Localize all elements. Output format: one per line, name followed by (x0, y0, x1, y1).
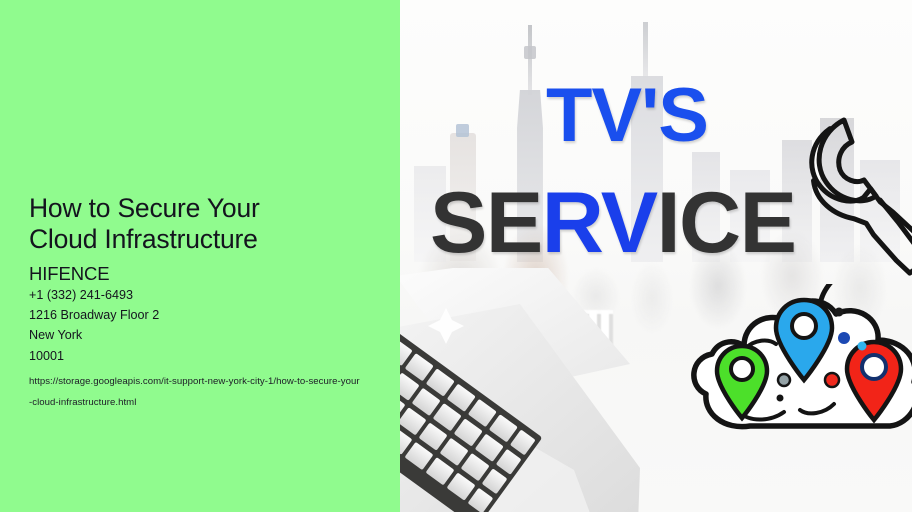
left-info-panel: How to Secure Your Cloud Infrastructure … (0, 0, 400, 512)
postal-code: 10001 (29, 346, 374, 366)
company-name: HIFENCE (29, 263, 374, 285)
dot-small-black (777, 395, 784, 402)
poster-canvas: How to Secure Your Cloud Infrastructure … (0, 0, 912, 512)
headline-seg-3: ICE (657, 175, 796, 271)
street-address: 1216 Broadway Floor 2 (29, 305, 374, 325)
page-title: How to Secure Your Cloud Infrastructure (29, 193, 334, 255)
laptop-graphic (400, 268, 678, 512)
headline-block: TV'S SERVICE (400, 0, 912, 270)
headline-line-2: SERVICE (430, 180, 796, 266)
headline-seg-1: SE (430, 175, 542, 271)
dot-grey (778, 374, 790, 386)
dot-lightblue (858, 342, 867, 351)
source-url[interactable]: https://storage.googleapis.com/it-suppor… (29, 371, 362, 413)
dot-black (835, 308, 844, 317)
dot-red (825, 373, 839, 387)
text-block: How to Secure Your Cloud Infrastructure … (29, 193, 374, 413)
city-name: New York (29, 325, 374, 345)
right-image-panel: TV'S SERVICE (400, 0, 912, 512)
headline-seg-2: RV (542, 175, 657, 271)
headline-line-1: TV'S (546, 78, 708, 154)
phone-number: +1 (332) 241-6493 (29, 285, 374, 305)
dot-navy (838, 332, 850, 344)
cloud-icon (684, 284, 912, 456)
